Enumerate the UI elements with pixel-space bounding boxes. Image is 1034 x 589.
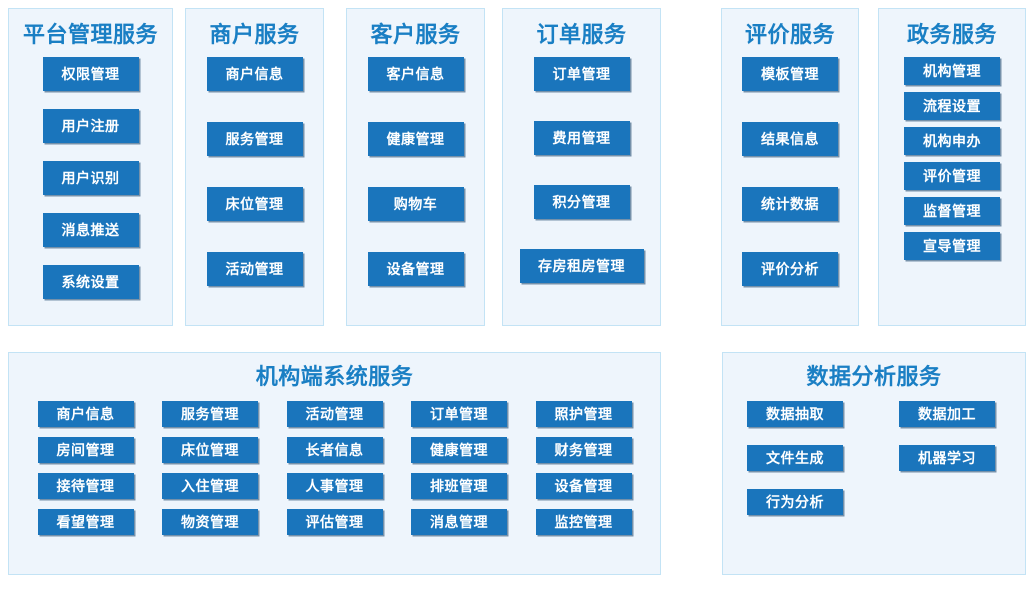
service-button[interactable]: 财务管理 — [536, 437, 632, 463]
service-button[interactable]: 购物车 — [368, 187, 464, 221]
service-button[interactable]: 数据加工 — [899, 401, 995, 427]
grid-spacer — [899, 489, 995, 515]
service-button[interactable]: 用户识别 — [43, 161, 139, 195]
service-button[interactable]: 消息推送 — [43, 213, 139, 247]
panel-order-service: 订单服务 订单管理 费用管理 积分管理 存房租房管理 — [502, 8, 661, 326]
service-button[interactable]: 权限管理 — [43, 57, 139, 91]
panel-title: 订单服务 — [503, 23, 660, 47]
panel-title: 平台管理服务 — [9, 23, 172, 47]
service-button[interactable]: 宣导管理 — [904, 232, 1000, 260]
service-button[interactable]: 统计数据 — [742, 187, 838, 221]
panel-title: 商户服务 — [186, 23, 323, 47]
service-button[interactable]: 商户信息 — [207, 57, 303, 91]
service-button[interactable]: 活动管理 — [287, 401, 383, 427]
service-button[interactable]: 客户信息 — [368, 57, 464, 91]
service-button[interactable]: 人事管理 — [287, 473, 383, 499]
panel-title: 评价服务 — [722, 23, 858, 47]
service-button[interactable]: 物资管理 — [162, 509, 258, 535]
panel-customer-service: 客户服务 客户信息 健康管理 购物车 设备管理 — [346, 8, 485, 326]
service-button-list: 模板管理 结果信息 统计数据 评价分析 — [722, 57, 858, 286]
service-button[interactable]: 模板管理 — [742, 57, 838, 91]
service-button-grid: 商户信息 服务管理 活动管理 订单管理 照护管理 房间管理 床位管理 长者信息 … — [9, 401, 660, 535]
service-button[interactable]: 活动管理 — [207, 252, 303, 286]
service-button[interactable]: 看望管理 — [38, 509, 134, 535]
service-button[interactable]: 服务管理 — [162, 401, 258, 427]
service-button[interactable]: 健康管理 — [411, 437, 507, 463]
service-button[interactable]: 流程设置 — [904, 92, 1000, 120]
service-button[interactable]: 服务管理 — [207, 122, 303, 156]
service-button[interactable]: 积分管理 — [534, 185, 630, 219]
service-button[interactable]: 健康管理 — [368, 122, 464, 156]
service-button[interactable]: 床位管理 — [207, 187, 303, 221]
service-button-list: 商户信息 服务管理 床位管理 活动管理 — [186, 57, 323, 286]
service-button[interactable]: 行为分析 — [747, 489, 843, 515]
service-button[interactable]: 设备管理 — [368, 252, 464, 286]
service-button-list: 订单管理 费用管理 积分管理 存房租房管理 — [503, 57, 660, 283]
service-button[interactable]: 文件生成 — [747, 445, 843, 471]
service-button[interactable]: 存房租房管理 — [520, 249, 644, 283]
service-button[interactable]: 费用管理 — [534, 121, 630, 155]
service-button[interactable]: 评估管理 — [287, 509, 383, 535]
service-button[interactable]: 入住管理 — [162, 473, 258, 499]
panel-merchant-service: 商户服务 商户信息 服务管理 床位管理 活动管理 — [185, 8, 324, 326]
service-button[interactable]: 数据抽取 — [747, 401, 843, 427]
service-button[interactable]: 结果信息 — [742, 122, 838, 156]
panel-title: 政务服务 — [879, 23, 1025, 47]
panel-platform-management: 平台管理服务 权限管理 用户注册 用户识别 消息推送 系统设置 — [8, 8, 173, 326]
service-button[interactable]: 房间管理 — [38, 437, 134, 463]
service-button[interactable]: 机构申办 — [904, 127, 1000, 155]
service-button-grid: 数据抽取 数据加工 文件生成 机器学习 行为分析 — [747, 401, 995, 515]
service-button[interactable]: 评价分析 — [742, 252, 838, 286]
service-button[interactable]: 系统设置 — [43, 265, 139, 299]
service-button[interactable]: 用户注册 — [43, 109, 139, 143]
panel-institution-system-service: 机构端系统服务 商户信息 服务管理 活动管理 订单管理 照护管理 房间管理 床位… — [8, 352, 661, 575]
panel-title: 客户服务 — [347, 23, 484, 47]
service-button[interactable]: 设备管理 — [536, 473, 632, 499]
service-button-list: 机构管理 流程设置 机构申办 评价管理 监督管理 宣导管理 — [879, 57, 1025, 260]
service-button[interactable]: 接待管理 — [38, 473, 134, 499]
service-button[interactable]: 商户信息 — [38, 401, 134, 427]
panel-government-service: 政务服务 机构管理 流程设置 机构申办 评价管理 监督管理 宣导管理 — [878, 8, 1026, 326]
panel-evaluation-service: 评价服务 模板管理 结果信息 统计数据 评价分析 — [721, 8, 859, 326]
service-button[interactable]: 机构管理 — [904, 57, 1000, 85]
panel-data-analysis-service: 数据分析服务 数据抽取 数据加工 文件生成 机器学习 行为分析 — [722, 352, 1026, 575]
service-button-list: 权限管理 用户注册 用户识别 消息推送 系统设置 — [9, 57, 172, 299]
service-button[interactable]: 照护管理 — [536, 401, 632, 427]
service-button[interactable]: 机器学习 — [899, 445, 995, 471]
service-button[interactable]: 监督管理 — [904, 197, 1000, 225]
service-button[interactable]: 消息管理 — [411, 509, 507, 535]
service-button[interactable]: 订单管理 — [411, 401, 507, 427]
panel-title: 数据分析服务 — [723, 365, 1025, 389]
service-button[interactable]: 监控管理 — [536, 509, 632, 535]
service-button-list: 客户信息 健康管理 购物车 设备管理 — [347, 57, 484, 286]
service-button[interactable]: 评价管理 — [904, 162, 1000, 190]
architecture-diagram: 平台管理服务 权限管理 用户注册 用户识别 消息推送 系统设置 商户服务 商户信… — [0, 0, 1034, 589]
service-button[interactable]: 床位管理 — [162, 437, 258, 463]
service-button[interactable]: 长者信息 — [287, 437, 383, 463]
panel-title: 机构端系统服务 — [9, 365, 660, 389]
service-button[interactable]: 排班管理 — [411, 473, 507, 499]
service-button[interactable]: 订单管理 — [534, 57, 630, 91]
